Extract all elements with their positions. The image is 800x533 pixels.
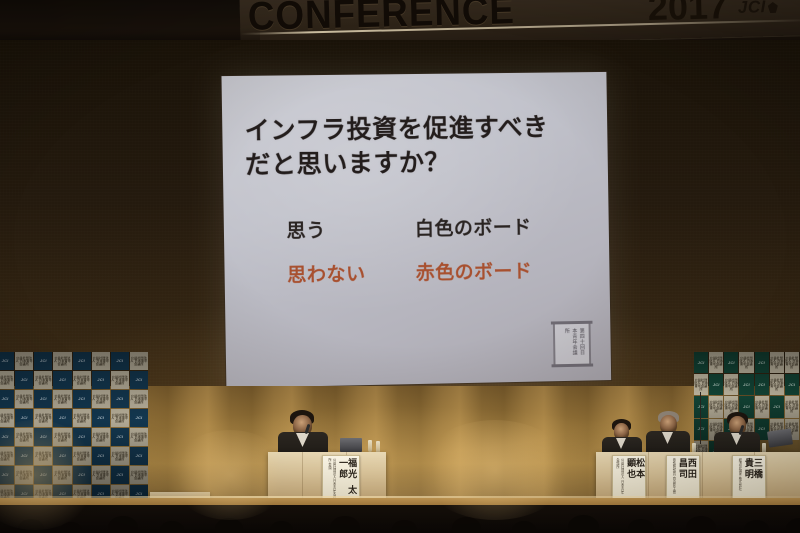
backdrop-jci-logo-tile: JCI bbox=[0, 428, 14, 446]
backdrop-sponsor-tile: 公益社団法人 日本青年会議所 bbox=[0, 371, 14, 389]
backdrop-jci-logo-tile: JCI bbox=[15, 409, 33, 427]
backdrop-sponsor-tile: 公益社団法人 日本青年会議所 bbox=[0, 447, 14, 465]
slide-question-line2: だと思いますか？ bbox=[245, 144, 590, 183]
backdrop-jci-logo-tile: JCI bbox=[34, 466, 52, 484]
backdrop-jci-logo-tile: JCI bbox=[130, 447, 148, 465]
projection-screen: インフラ投資を促進すべき だと思いますか？ 思う 白色のボード 思わない 赤色の… bbox=[221, 72, 611, 388]
backdrop-jci-logo-tile: JCI bbox=[724, 352, 738, 373]
backdrop-jci-logo-tile: JCI bbox=[73, 428, 91, 446]
backdrop-jci-logo-tile: JCI bbox=[694, 419, 708, 440]
audience-head bbox=[160, 521, 184, 533]
backdrop-jci-logo-tile: JCI bbox=[0, 390, 14, 408]
slide-options: 思う 白色のボード 思わない 赤色のボード bbox=[286, 211, 607, 304]
slide-question-line1: インフラ投資を促進すべき bbox=[244, 110, 589, 148]
backdrop-jci-logo-tile: JCI bbox=[111, 352, 129, 370]
nameplate-title: 公益社団法人日本青年会議所 会頭 bbox=[327, 458, 336, 500]
backdrop-sponsor-tile: 公益社団法人 日本青年会議所 bbox=[724, 374, 738, 395]
backdrop-sponsor-tile: 公益社団法人 日本青年会議所 bbox=[130, 428, 148, 446]
slide-option-answer: 思わない bbox=[287, 258, 416, 287]
backdrop-sponsor-tile: 公益社団法人 日本青年会議所 bbox=[709, 396, 723, 417]
backdrop-jci-logo-tile: JCI bbox=[694, 396, 708, 417]
backdrop-sponsor-tile: 公益社団法人 日本青年会議所 bbox=[15, 428, 33, 446]
backdrop-sponsor-tile: 公益社団法人 日本青年会議所 bbox=[770, 374, 784, 395]
backdrop-sponsor-tile: 公益社団法人 日本青年会議所 bbox=[53, 390, 71, 408]
backdrop-sponsor-tile: 公益社団法人 日本青年会議所 bbox=[111, 409, 129, 427]
slide-option-row: 思わない 赤色のボード bbox=[287, 255, 607, 287]
backdrop-jci-logo-tile: JCI bbox=[92, 409, 110, 427]
backdrop-sponsor-tile: 公益社団法人 日本青年会議所 bbox=[785, 352, 799, 373]
backdrop-sponsor-tile: 公益社団法人 日本青年会議所 bbox=[709, 352, 723, 373]
nameplate-panelist-3: 三橋 貴明 経済評論家 株式会社 bbox=[732, 455, 766, 499]
backdrop-sponsor-tile: 公益社団法人 日本青年会議所 bbox=[15, 390, 33, 408]
seal-text: 第四十回日本青年会議所 bbox=[559, 328, 585, 360]
backdrop-sponsor-tile: 公益社団法人 日本青年会議所 bbox=[111, 447, 129, 465]
backdrop-jci-logo-tile: JCI bbox=[755, 352, 769, 373]
audience-head bbox=[686, 516, 716, 533]
backdrop-jci-logo-tile: JCI bbox=[694, 352, 708, 373]
audience-head bbox=[330, 516, 360, 533]
backdrop-sponsor-tile: 公益社団法人 日本青年会議所 bbox=[785, 396, 799, 417]
audience-head bbox=[18, 519, 44, 533]
backdrop-sponsor-tile: 公益社団法人 日本青年会議所 bbox=[34, 371, 52, 389]
backdrop-sponsor-tile: 公益社団法人 日本青年会議所 bbox=[53, 428, 71, 446]
nameplate-name: 三橋 貴明 bbox=[743, 458, 761, 496]
audience-head bbox=[215, 518, 243, 533]
backdrop-sponsor-tile: 公益社団法人 日本青年会議所 bbox=[92, 390, 110, 408]
audience-head bbox=[108, 516, 138, 533]
backdrop-sponsor-tile: 公益社団法人 日本青年会議所 bbox=[53, 466, 71, 484]
backdrop-jci-logo-tile: JCI bbox=[770, 396, 784, 417]
backdrop-jci-logo-tile: JCI bbox=[53, 447, 71, 465]
audience-head bbox=[60, 522, 82, 533]
backdrop-sponsor-tile: 公益社団法人 日本青年会議所 bbox=[92, 466, 110, 484]
backdrop-jci-logo-tile: JCI bbox=[15, 447, 33, 465]
water-bottle bbox=[368, 440, 372, 452]
backdrop-sponsor-tile: 公益社団法人 日本青年会議所 bbox=[15, 466, 33, 484]
backdrop-sponsor-tile: 公益社団法人 日本青年会議所 bbox=[130, 466, 148, 484]
nameplate-name: 福光 太一郎 bbox=[337, 458, 355, 500]
backdrop-jci-logo-tile: JCI bbox=[739, 374, 753, 395]
backdrop-jci-logo-tile: JCI bbox=[111, 466, 129, 484]
microphone-stand bbox=[700, 392, 701, 444]
audience-head bbox=[270, 521, 293, 533]
conference-photo-scene: CONFERENCE 2017 JCI インフラ投資を促進すべき だと思いますか… bbox=[0, 0, 800, 533]
backdrop-sponsor-tile: 公益社団法人 日本青年会議所 bbox=[130, 390, 148, 408]
backdrop-jci-logo-tile: JCI bbox=[53, 371, 71, 389]
backdrop-jci-logo-tile: JCI bbox=[34, 428, 52, 446]
panelist-3-papers bbox=[767, 428, 793, 447]
backdrop-sponsor-tile: 公益社団法人 日本青年会議所 bbox=[92, 352, 110, 370]
backdrop-jci-logo-tile: JCI bbox=[73, 352, 91, 370]
seal-bottom-bar bbox=[552, 364, 594, 368]
backdrop-jci-logo-tile: JCI bbox=[73, 390, 91, 408]
backdrop-sponsor-tile: 公益社団法人 日本青年会議所 bbox=[34, 447, 52, 465]
slide-option-row: 思う 白色のボード bbox=[286, 211, 606, 243]
audience-head bbox=[512, 521, 536, 533]
nameplate-title: 公益社団法人 日本青年会議所 bbox=[615, 458, 624, 496]
backdrop-jci-logo-tile: JCI bbox=[0, 352, 14, 370]
audience-head bbox=[786, 518, 800, 533]
backdrop-jci-logo-tile: JCI bbox=[92, 447, 110, 465]
audience-head bbox=[628, 519, 654, 533]
backdrop-jci-logo-tile: JCI bbox=[73, 466, 91, 484]
backdrop-jci-logo-tile: JCI bbox=[34, 390, 52, 408]
backdrop-sponsor-tile: 公益社団法人 日本青年会議所 bbox=[755, 396, 769, 417]
backdrop-sponsor-tile: 公益社団法人 日本青年会議所 bbox=[15, 352, 33, 370]
nameplate-panelist-2: 西田 昌司 参議院議員 自由民主党 bbox=[666, 455, 700, 499]
banner-jci-text: JCI bbox=[738, 0, 766, 17]
backdrop-jci-logo-tile: JCI bbox=[130, 371, 148, 389]
nameplate-name: 西田 昌司 bbox=[677, 458, 695, 496]
audience-head bbox=[568, 515, 599, 533]
backdrop-jci-logo-tile: JCI bbox=[755, 374, 769, 395]
audience-silhouettes bbox=[0, 505, 800, 533]
backdrop-jci-logo-tile: JCI bbox=[111, 390, 129, 408]
backdrop-sponsor-tile: 公益社団法人 日本青年会議所 bbox=[53, 352, 71, 370]
banner-jci-logo: JCI bbox=[738, 0, 778, 18]
nameplate-title: 参議院議員 自由民主党 bbox=[671, 458, 676, 496]
audience-head bbox=[452, 517, 481, 533]
backdrop-jci-logo-tile: JCI bbox=[709, 374, 723, 395]
backdrop-jci-logo-tile: JCI bbox=[15, 371, 33, 389]
slide-option-board: 白色のボード bbox=[415, 212, 532, 241]
backdrop-sponsor-tile: 公益社団法人 日本青年会議所 bbox=[73, 447, 91, 465]
nameplate-name: 松本 顕也 bbox=[625, 458, 643, 496]
backdrop-jci-logo-tile: JCI bbox=[34, 352, 52, 370]
backdrop-sponsor-tile: 公益社団法人 日本青年会議所 bbox=[111, 371, 129, 389]
backdrop-sponsor-tile: 公益社団法人 日本青年会議所 bbox=[770, 352, 784, 373]
backdrop-sponsor-tile: 公益社団法人 日本青年会議所 bbox=[694, 374, 708, 395]
slide-option-board: 赤色のボード bbox=[415, 256, 532, 285]
backdrop-sponsor-tile: 公益社団法人 日本青年会議所 bbox=[73, 409, 91, 427]
backdrop-jci-logo-tile: JCI bbox=[92, 371, 110, 389]
backdrop-jci-logo-tile: JCI bbox=[0, 466, 14, 484]
backdrop-sponsor-tile: 公益社団法人 日本青年会議所 bbox=[92, 428, 110, 446]
diamond-shield-icon bbox=[768, 2, 778, 13]
slide-seal-watermark: 第四十回日本青年会議所 bbox=[553, 321, 591, 368]
audience-head bbox=[744, 520, 769, 533]
audience-head bbox=[392, 520, 417, 533]
backdrop-sponsor-tile: 公益社団法人 日本青年会議所 bbox=[34, 409, 52, 427]
seal-top-bar bbox=[551, 321, 593, 325]
slide-question: インフラ投資を促進すべき だと思いますか？ bbox=[244, 110, 590, 183]
backdrop-jci-logo-tile: JCI bbox=[130, 409, 148, 427]
slide-option-answer: 思う bbox=[286, 214, 415, 243]
backdrop-jci-logo-tile: JCI bbox=[111, 428, 129, 446]
backdrop-jci-logo-tile: JCI bbox=[53, 409, 71, 427]
backdrop-sponsor-tile: 公益社団法人 日本青年会議所 bbox=[0, 409, 14, 427]
backdrop-sponsor-tile: 公益社団法人 日本青年会議所 bbox=[73, 371, 91, 389]
backdrop-sponsor-tile: 公益社団法人 日本青年会議所 bbox=[130, 352, 148, 370]
backdrop-sponsor-tile: 公益社団法人 日本青年会議所 bbox=[739, 352, 753, 373]
backdrop-jci-logo-tile: JCI bbox=[785, 374, 799, 395]
moderator-laptop bbox=[340, 438, 362, 452]
nameplate-title: 経済評論家 株式会社 bbox=[737, 458, 742, 496]
nameplate-panelist-1: 松本 顕也 公益社団法人 日本青年会議所 bbox=[612, 455, 646, 499]
